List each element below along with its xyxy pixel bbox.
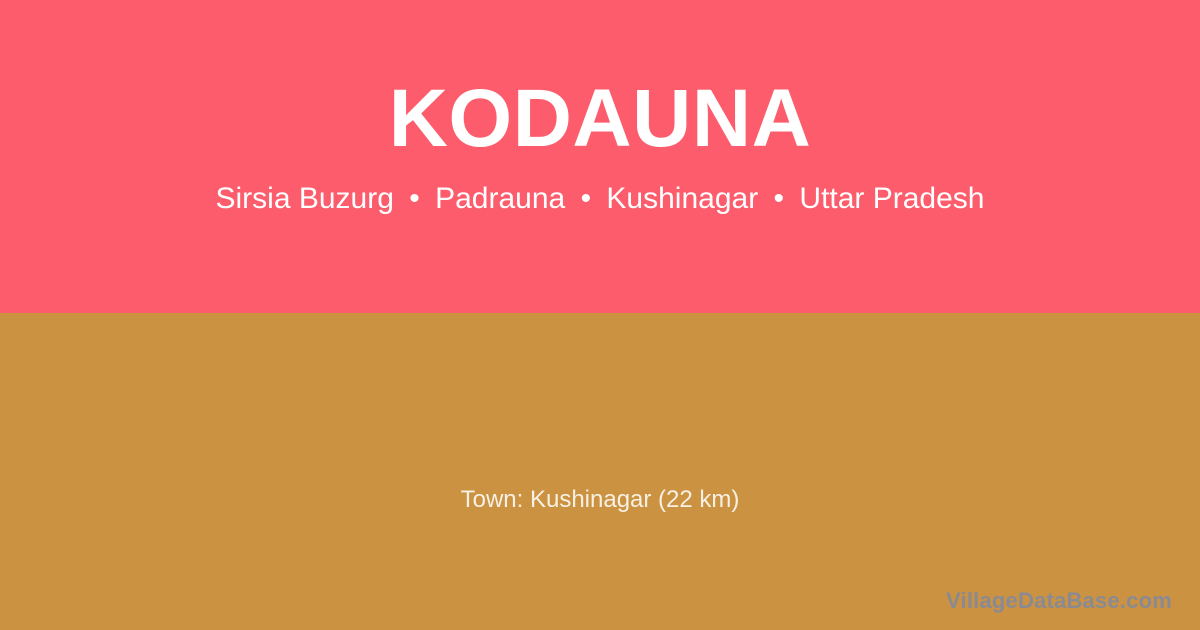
breadcrumb: Sirsia Buzurg • Padrauna • Kushinagar • … bbox=[0, 160, 1200, 216]
nearest-town-label: Town: Kushinagar (22 km) bbox=[0, 486, 1200, 514]
breadcrumb-separator: • bbox=[767, 182, 792, 216]
page-title: KODAUNA bbox=[0, 0, 1200, 160]
breadcrumb-item-district: Kushinagar bbox=[606, 182, 758, 215]
hero-banner: KODAUNA Sirsia Buzurg • Padrauna • Kushi… bbox=[0, 0, 1200, 313]
map-area: Town: Kushinagar (22 km) VillageDataBase… bbox=[0, 313, 1200, 630]
hero-content: KODAUNA Sirsia Buzurg • Padrauna • Kushi… bbox=[0, 0, 1200, 216]
site-watermark: VillageDataBase.com bbox=[946, 588, 1172, 614]
breadcrumb-item-state: Uttar Pradesh bbox=[799, 182, 984, 215]
breadcrumb-item-block: Sirsia Buzurg bbox=[216, 182, 394, 215]
breadcrumb-separator: • bbox=[402, 182, 427, 216]
breadcrumb-separator: • bbox=[574, 182, 599, 216]
breadcrumb-item-subdistrict: Padrauna bbox=[435, 182, 565, 215]
village-info-card: KODAUNA Sirsia Buzurg • Padrauna • Kushi… bbox=[0, 0, 1200, 630]
